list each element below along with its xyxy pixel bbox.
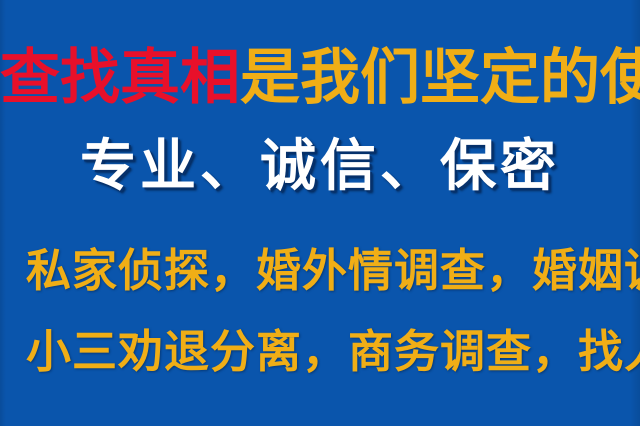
services-line-2: 小三劝退分离，商务调查，找人寻人 [26,329,640,374]
advertisement-banner: 查找真相是我们坚定的使命 专业、诚信、保密 私家侦探，婚外情调查，婚姻调查， 小… [0,0,640,426]
headline-slogan: 查找真相是我们坚定的使命 [0,48,640,108]
services-line-1: 私家侦探，婚外情调查，婚姻调查， [26,248,640,293]
tagline-values: 专业、诚信、保密 [0,139,640,195]
headline-rest-text: 是我们坚定的使命 [240,43,640,113]
headline-highlight-text: 查找真相 [0,43,240,113]
